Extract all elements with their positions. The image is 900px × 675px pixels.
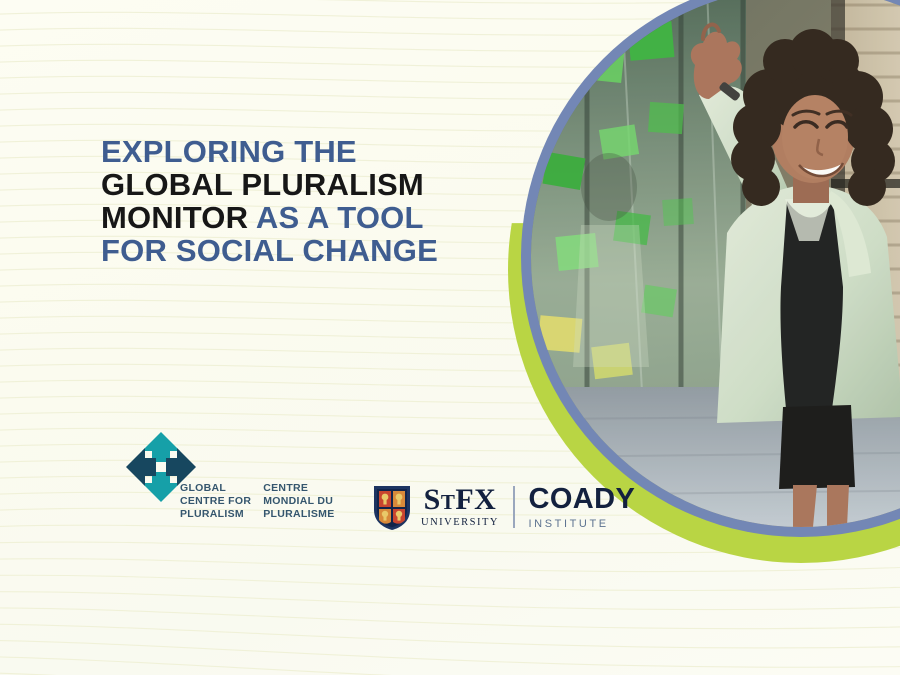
presentation-slide: EXPLORING THE GLOBAL PLURALISM MONITOR A…: [0, 0, 900, 675]
stfx-letter-s: S: [424, 483, 441, 516]
coady-name: COADY: [529, 485, 636, 514]
stfx-subtitle: UNIVERSITY: [421, 518, 499, 529]
shield-crest-icon: [372, 484, 412, 531]
coady-wordmark: COADY INSTITUTE: [529, 485, 636, 530]
title-line-1: EXPLORING THE: [101, 135, 521, 168]
gcp-wordmark-english: GLOBAL CENTRE FOR PLURALISM: [180, 482, 251, 521]
gcp-en-line-1: GLOBAL: [180, 482, 226, 494]
stfx-letter-x: X: [474, 483, 496, 516]
global-centre-for-pluralism-logo: GLOBAL CENTRE FOR PLURALISM CENTRE MONDI…: [122, 428, 352, 533]
gcp-fr-line-1: CENTRE: [263, 482, 308, 494]
gcp-fr-line-2: MONDIAL DU: [263, 495, 333, 507]
gcp-en-line-3: PLURALISM: [180, 508, 244, 520]
gcp-wordmark-french: CENTRE MONDIAL DU PLURALISME: [263, 482, 334, 521]
stfx-letter-f: F: [455, 483, 474, 516]
stfx-coady-institute-logo: STFX UNIVERSITY COADY INSTITUTE: [372, 481, 635, 533]
page-title: EXPLORING THE GLOBAL PLURALISM MONITOR A…: [101, 135, 521, 267]
title-line-3-blue: AS A TOOL: [256, 200, 424, 235]
title-line-2: GLOBAL PLURALISM: [101, 168, 521, 201]
title-line-4: FOR SOCIAL CHANGE: [101, 234, 521, 267]
logo-divider: [513, 486, 515, 528]
gcp-en-line-2: CENTRE FOR: [180, 495, 251, 507]
stfx-name: STFX: [424, 485, 497, 515]
gcp-wordmark: GLOBAL CENTRE FOR PLURALISM CENTRE MONDI…: [180, 482, 335, 521]
stfx-wordmark: STFX UNIVERSITY: [421, 485, 499, 529]
hero-photo-circle: [508, 0, 900, 563]
stfx-letter-t: T: [441, 490, 456, 514]
title-line-3-dark: MONITOR: [101, 200, 248, 235]
title-line-3: MONITOR AS A TOOL: [101, 201, 521, 234]
gcp-fr-line-3: PLURALISME: [263, 508, 334, 520]
coady-subtitle: INSTITUTE: [529, 519, 636, 530]
